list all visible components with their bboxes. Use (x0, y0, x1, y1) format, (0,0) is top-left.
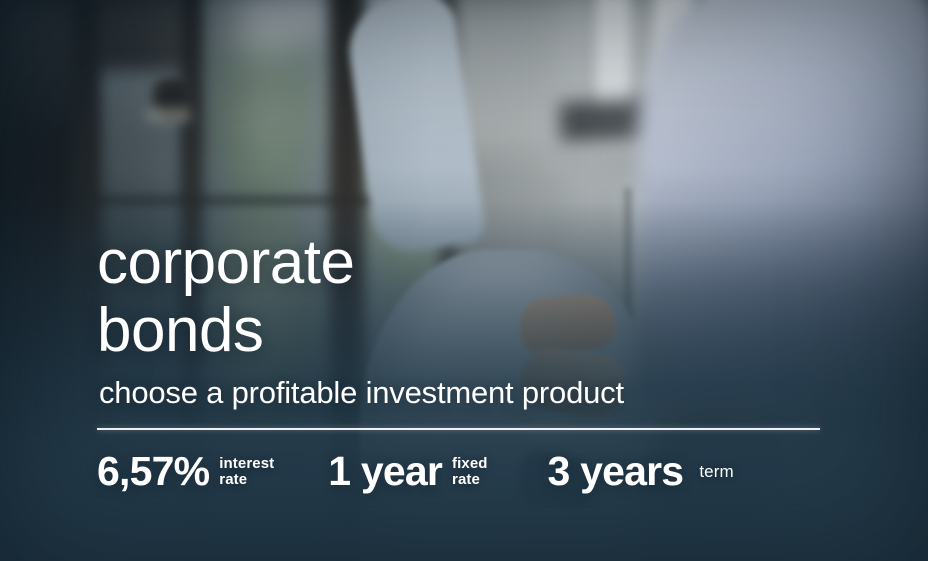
subtitle: choose a profitable investment product (99, 376, 837, 410)
stat-term: 3 years term (548, 449, 734, 493)
stats-row: 6,57% interest rate 1 year fixed rate 3 … (97, 449, 827, 493)
stat-label-line-2: rate (219, 472, 274, 488)
divider (97, 428, 820, 430)
stat-label: fixed rate (452, 456, 488, 488)
stat-value: 3 years (548, 449, 684, 493)
headline-line-1: corporate (97, 232, 837, 294)
stat-label-line-1: interest (219, 456, 274, 472)
banner-content: corporate bonds choose a profitable inve… (97, 232, 837, 493)
stat-value: 1 year (328, 449, 442, 493)
stat-label-line-2: rate (452, 472, 488, 488)
stat-label: term (699, 464, 733, 480)
headline-line-2: bonds (97, 300, 837, 362)
page-title: corporate bonds (97, 232, 837, 362)
stat-fixed-rate: 1 year fixed rate (328, 449, 487, 493)
stat-label-line-1: fixed (452, 456, 488, 472)
stat-label: interest rate (219, 456, 274, 488)
stat-interest-rate: 6,57% interest rate (97, 449, 274, 493)
stat-value: 6,57% (97, 449, 209, 493)
corporate-bonds-banner: corporate bonds choose a profitable inve… (0, 0, 928, 561)
